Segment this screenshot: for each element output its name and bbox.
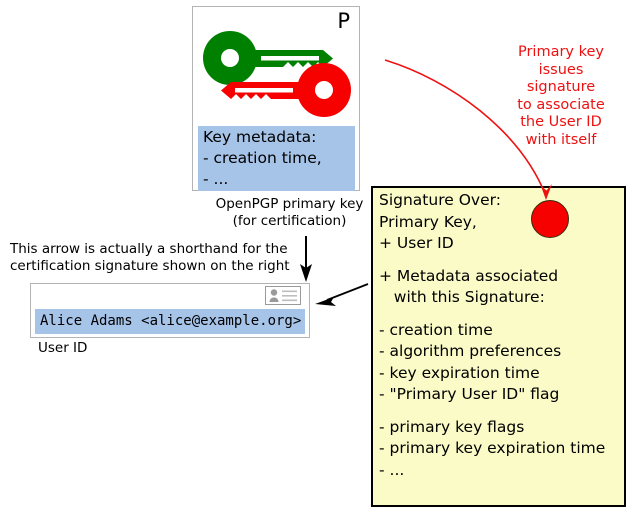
key-metadata-line: - creation time,: [198, 148, 355, 169]
primary-key-caption-line: (for certification): [202, 213, 377, 230]
primary-key-caption: OpenPGP primary key (for certification): [202, 196, 377, 230]
red-annotation-line: Primary key: [497, 44, 625, 62]
signature-line: Primary Key,: [379, 212, 620, 234]
user-id-card: Alice Adams <alice@example.org>: [30, 283, 310, 338]
signature-line: Signature Over:: [379, 190, 620, 212]
red-annotation-line: to associate: [497, 97, 625, 115]
key-metadata-line: Key metadata:: [198, 126, 355, 148]
key-pair-icon: [201, 29, 353, 121]
user-id-caption: User ID: [38, 340, 87, 357]
primary-key-card: P Key metadata: - creation time, - ...: [192, 6, 360, 191]
signature-line: + Metadata associated: [379, 266, 620, 288]
user-id-band: Alice Adams <alice@example.org>: [35, 309, 305, 334]
signature-box: Signature Over: Primary Key, + User ID +…: [371, 186, 626, 507]
red-annotation-line: with itself: [497, 132, 625, 150]
signature-line: - key expiration time: [379, 363, 620, 385]
black-left-arrow: [315, 284, 368, 306]
user-id-value: Alice Adams <alice@example.org>: [35, 309, 305, 334]
signature-line: + User ID: [379, 233, 620, 255]
signature-line: - primary key flags: [379, 417, 620, 439]
signature-line: - primary key expiration time: [379, 438, 620, 460]
contact-card-icon: [265, 286, 301, 305]
red-annotation-line: issues: [497, 62, 625, 80]
diagram-canvas: P Key metadata: - creation time, - ... O…: [0, 0, 637, 515]
primary-key-caption-line: OpenPGP primary key: [202, 196, 377, 213]
signature-line: - ...: [379, 460, 620, 482]
shorthand-annotation-line: certification signature shown on the rig…: [10, 258, 310, 275]
signature-spacer: [379, 309, 620, 320]
signature-line: with this Signature:: [379, 287, 620, 309]
signature-line: - creation time: [379, 320, 620, 342]
red-annotation-line: signature: [497, 79, 625, 97]
signature-spacer: [379, 406, 620, 417]
shorthand-annotation-line: This arrow is actually a shorthand for t…: [10, 241, 310, 258]
signature-line: - algorithm preferences: [379, 341, 620, 363]
key-metadata-band: Key metadata: - creation time, - ...: [198, 126, 355, 191]
signature-line: - "Primary User ID" flag: [379, 384, 620, 406]
signature-spacer: [379, 255, 620, 266]
signature-content: Signature Over: Primary Key, + User ID +…: [379, 190, 620, 481]
key-metadata-line: - ...: [198, 169, 355, 190]
red-annotation-text: Primary key issues signature to associat…: [497, 44, 625, 149]
shorthand-annotation-text: This arrow is actually a shorthand for t…: [10, 241, 310, 274]
red-annotation-line: the User ID: [497, 114, 625, 132]
